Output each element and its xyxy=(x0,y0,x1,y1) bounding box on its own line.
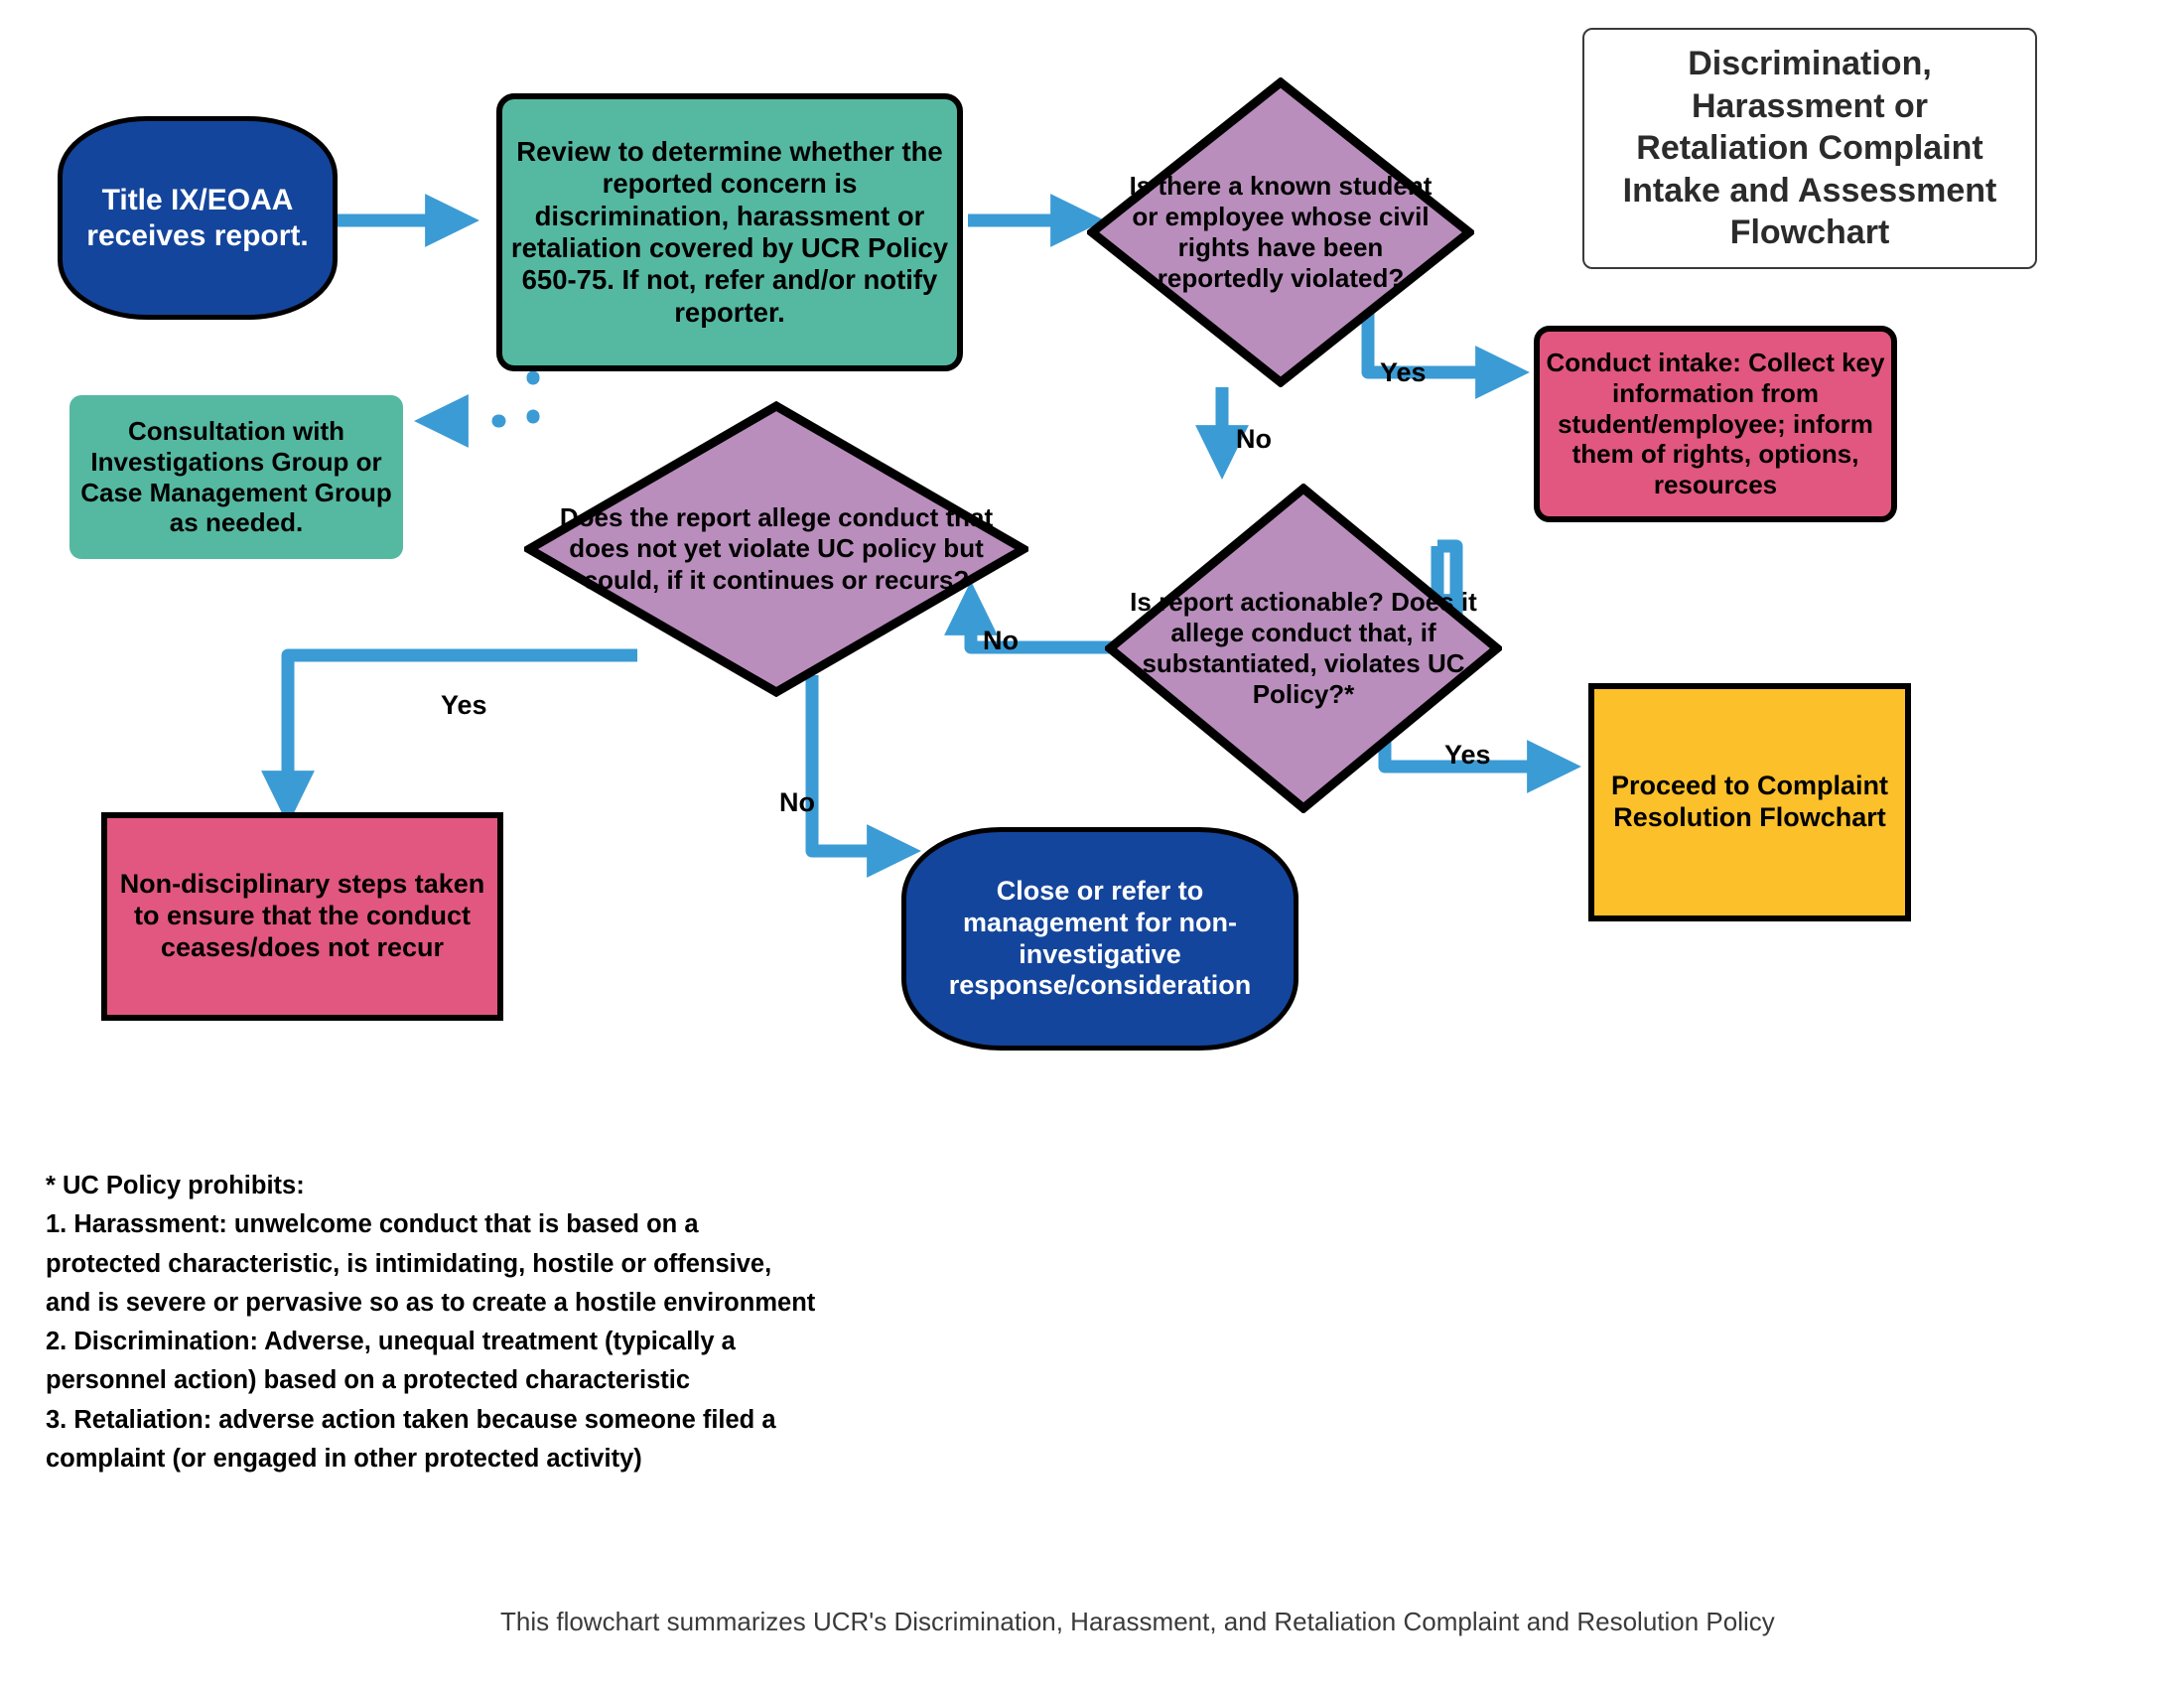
flowchart-title-card: Discrimination, Harassment or Retaliatio… xyxy=(1582,28,2037,269)
node-decision-report-actionable[interactable]: Is report actionable? Does it allege con… xyxy=(1105,484,1502,813)
flowchart-title-text: Discrimination, Harassment or Retaliatio… xyxy=(1584,43,2035,254)
node-consultation-label: Consultation with Investigations Group o… xyxy=(72,416,400,538)
policy-footnote: * UC Policy prohibits: 1. Harassment: un… xyxy=(46,1167,1038,1478)
edge-notyet-no-to-close xyxy=(812,675,908,851)
edge-label-actionable-no: No xyxy=(983,626,1019,656)
edge-label-notyet-no: No xyxy=(779,787,815,818)
flowchart-caption: This flowchart summarizes UCR's Discrimi… xyxy=(500,1607,1775,1637)
node-decision-known-person[interactable]: Is there a known student or employee who… xyxy=(1087,77,1474,387)
node-non-disciplinary-label: Non-disciplinary steps taken to ensure t… xyxy=(107,869,497,964)
node-decision-report-actionable-label: Is report actionable? Does it allege con… xyxy=(1125,484,1482,813)
title-line-5: Flowchart xyxy=(1730,213,1890,251)
title-line-4: Intake and Assessment xyxy=(1623,172,1997,210)
node-start-title-ix-receives-report[interactable]: Title IX/EOAA receives report. xyxy=(58,116,338,320)
edge-label-known-no: No xyxy=(1236,424,1272,455)
node-non-disciplinary-steps[interactable]: Non-disciplinary steps taken to ensure t… xyxy=(101,812,503,1021)
node-proceed-to-complaint-resolution[interactable]: Proceed to Complaint Resolution Flowchar… xyxy=(1588,683,1911,921)
title-line-3: Retaliation Complaint xyxy=(1636,129,1982,167)
node-close-or-refer[interactable]: Close or refer to management for non-inv… xyxy=(901,827,1298,1051)
edge-label-known-yes: Yes xyxy=(1380,357,1427,388)
node-consultation-group[interactable]: Consultation with Investigations Group o… xyxy=(69,395,403,559)
title-line-2: Harassment or xyxy=(1692,87,1928,125)
node-proceed-label: Proceed to Complaint Resolution Flowchar… xyxy=(1594,771,1905,834)
title-line-1: Discrimination, xyxy=(1688,45,1932,82)
node-conduct-intake-label: Conduct intake: Collect key information … xyxy=(1540,348,1891,499)
flowchart-canvas: Discrimination, Harassment or Retaliatio… xyxy=(0,0,2184,1688)
edge-review-to-consultation xyxy=(427,377,533,421)
node-decision-not-yet-violate[interactable]: Does the report allege conduct that does… xyxy=(524,401,1028,697)
node-start-label: Title IX/EOAA receives report. xyxy=(63,183,333,253)
node-decision-known-person-label: Is there a known student or employee who… xyxy=(1118,77,1443,387)
node-close-or-refer-label: Close or refer to management for non-inv… xyxy=(906,876,1294,1002)
node-review-determination[interactable]: Review to determine whether the reported… xyxy=(496,93,963,371)
node-conduct-intake[interactable]: Conduct intake: Collect key information … xyxy=(1534,326,1897,522)
node-review-label: Review to determine whether the reported… xyxy=(502,136,957,330)
node-decision-not-yet-violate-label: Does the report allege conduct that does… xyxy=(554,401,998,697)
edge-label-notyet-yes: Yes xyxy=(441,690,487,721)
edge-label-actionable-yes: Yes xyxy=(1444,740,1491,771)
